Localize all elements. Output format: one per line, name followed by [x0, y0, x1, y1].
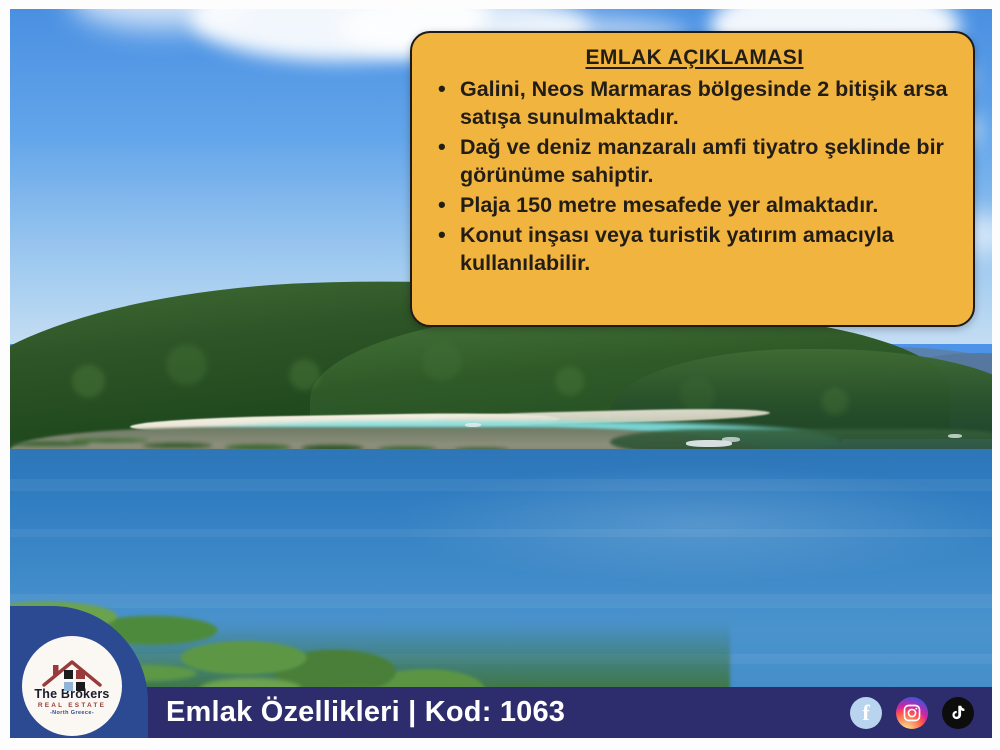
- list-item: Plaja 150 metre mesafede yer almaktadır.: [434, 192, 955, 220]
- list-item: Konut inşası veya turistik yatırım amacı…: [434, 222, 955, 278]
- logo-region: -North Greece-: [50, 710, 94, 716]
- house-roof-icon: [41, 659, 103, 685]
- social-links: f: [850, 697, 974, 729]
- description-card-title: EMLAK AÇIKLAMASI: [434, 46, 955, 70]
- logo-tagline: REAL ESTATE: [38, 702, 106, 709]
- window-grid-icon: [64, 670, 85, 691]
- description-card: EMLAK AÇIKLAMASI Galini, Neos Marmaras b…: [410, 31, 975, 327]
- facebook-icon[interactable]: f: [850, 697, 882, 729]
- listing-title: Emlak Özellikleri | Kod: 1063: [166, 696, 565, 729]
- boat: [948, 434, 962, 438]
- real-estate-listing-poster: EMLAK AÇIKLAMASI Galini, Neos Marmaras b…: [0, 0, 1000, 750]
- logo-circle: The Brokers REAL ESTATE -North Greece-: [22, 636, 122, 736]
- description-bullet-list: Galini, Neos Marmaras bölgesinde 2 bitiş…: [434, 76, 955, 278]
- boat: [465, 423, 481, 427]
- tiktok-icon[interactable]: [942, 697, 974, 729]
- list-item: Dağ ve deniz manzaralı amfi tiyatro şekl…: [434, 134, 955, 190]
- boat: [722, 437, 740, 442]
- instagram-icon[interactable]: [896, 697, 928, 729]
- list-item: Galini, Neos Marmaras bölgesinde 2 bitiş…: [434, 76, 955, 132]
- bottom-bar: Emlak Özellikleri | Kod: 1063 f: [140, 687, 992, 738]
